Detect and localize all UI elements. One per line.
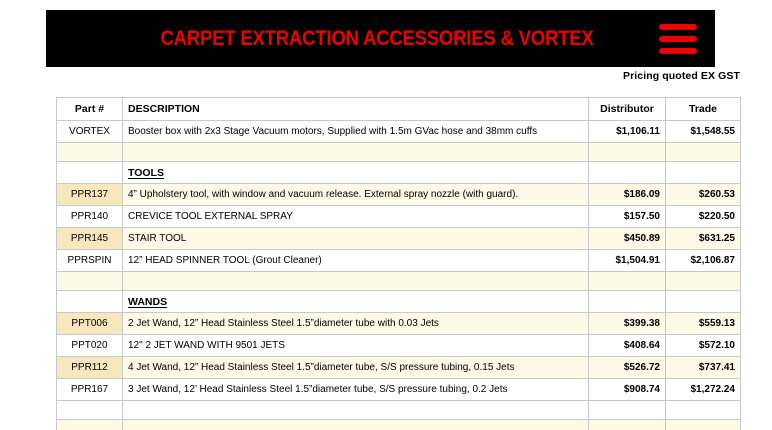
cell-description: Booster box with 2x3 Stage Vacuum motors… — [123, 121, 589, 143]
table-header-row: Part # DESCRIPTION Distributor Trade — [57, 98, 741, 121]
hamburger-bar-1 — [659, 24, 697, 30]
column-header-distributor: Distributor — [589, 98, 666, 121]
column-header-part: Part # — [57, 98, 123, 121]
table-row[interactable]: PPR1673 Jet Wand, 12’ Head Stainless Ste… — [57, 379, 741, 401]
section-title-label: WANDS — [128, 296, 167, 308]
cell-part-number: VORTEX — [57, 121, 123, 143]
section-title: WANDS — [123, 291, 589, 313]
cell-trade-price: $2,106.87 — [666, 250, 741, 272]
cell-description: CREVICE TOOL EXTERNAL SPRAY — [123, 206, 589, 228]
cell-distributor-price: $408.64 — [589, 335, 666, 357]
cell-part-number: PPT020 — [57, 335, 123, 357]
spacer-cell — [123, 143, 589, 162]
cell-part-number: PPRSPIN — [57, 250, 123, 272]
spacer-cell — [123, 272, 589, 291]
table-spacer-row — [57, 272, 741, 291]
spacer-cell — [666, 272, 741, 291]
spacer-cell — [57, 401, 123, 420]
page-title: CARPET EXTRACTION ACCESSORIES & VORTEX — [83, 27, 621, 51]
hamburger-bar-2 — [659, 36, 697, 42]
table-row[interactable]: PPR140CREVICE TOOL EXTERNAL SPRAY$157.50… — [57, 206, 741, 228]
cell-trade-price: $260.53 — [666, 184, 741, 206]
section-price-cell — [666, 291, 741, 313]
cell-part-number: PPT006 — [57, 313, 123, 335]
spacer-cell — [57, 420, 123, 430]
cell-trade-price: $1,548.55 — [666, 121, 741, 143]
cell-description: 3 Jet Wand, 12’ Head Stainless Steel 1.5… — [123, 379, 589, 401]
table-row[interactable]: PPR145STAIR TOOL$450.89$631.25 — [57, 228, 741, 250]
cell-description: 2 Jet Wand, 12” Head Stainless Steel 1.5… — [123, 313, 589, 335]
section-title-label: TOOLS — [128, 167, 164, 179]
spacer-cell — [666, 420, 741, 430]
column-header-description: DESCRIPTION — [123, 98, 589, 121]
price-table-container: Part # DESCRIPTION Distributor Trade VOR… — [56, 97, 740, 430]
cell-distributor-price: $399.38 — [589, 313, 666, 335]
cell-distributor-price: $526.72 — [589, 357, 666, 379]
cell-distributor-price: $186.09 — [589, 184, 666, 206]
cell-trade-price: $559.13 — [666, 313, 741, 335]
section-part-cell — [57, 162, 123, 184]
price-table-body: Part # DESCRIPTION Distributor Trade VOR… — [57, 98, 741, 430]
spacer-cell — [123, 420, 589, 430]
table-row[interactable]: PPR1124 Jet Wand, 12” Head Stainless Ste… — [57, 357, 741, 379]
table-row[interactable]: PPRSPIN12” HEAD SPINNER TOOL (Grout Clea… — [57, 250, 741, 272]
page-banner: CARPET EXTRACTION ACCESSORIES & VORTEX — [46, 10, 715, 67]
spacer-cell — [589, 401, 666, 420]
table-section-row: TOOLS — [57, 162, 741, 184]
table-row[interactable]: VORTEXBooster box with 2x3 Stage Vacuum … — [57, 121, 741, 143]
table-row[interactable]: PPT0062 Jet Wand, 12” Head Stainless Ste… — [57, 313, 741, 335]
cell-description: 12” HEAD SPINNER TOOL (Grout Cleaner) — [123, 250, 589, 272]
column-header-trade: Trade — [666, 98, 741, 121]
table-spacer-row — [57, 401, 741, 420]
section-price-cell — [666, 162, 741, 184]
section-title: TOOLS — [123, 162, 589, 184]
cell-distributor-price: $908.74 — [589, 379, 666, 401]
cell-description: STAIR TOOL — [123, 228, 589, 250]
hamburger-menu-icon[interactable] — [657, 24, 697, 54]
table-section-row: WANDS — [57, 291, 741, 313]
cell-description: 12" 2 JET WAND WITH 9501 JETS — [123, 335, 589, 357]
spacer-cell — [123, 401, 589, 420]
spacer-cell — [57, 143, 123, 162]
table-spacer-row — [57, 420, 741, 430]
cell-trade-price: $631.25 — [666, 228, 741, 250]
cell-trade-price: $572.10 — [666, 335, 741, 357]
spacer-cell — [589, 143, 666, 162]
cell-description: 4 Jet Wand, 12” Head Stainless Steel 1.5… — [123, 357, 589, 379]
cell-description: 4” Upholstery tool, with window and vacu… — [123, 184, 589, 206]
cell-part-number: PPR167 — [57, 379, 123, 401]
cell-distributor-price: $1,504.91 — [589, 250, 666, 272]
spacer-cell — [666, 143, 741, 162]
spacer-cell — [589, 272, 666, 291]
spacer-cell — [57, 272, 123, 291]
price-table: Part # DESCRIPTION Distributor Trade VOR… — [56, 97, 741, 430]
cell-distributor-price: $1,106.11 — [589, 121, 666, 143]
price-list-page: CARPET EXTRACTION ACCESSORIES & VORTEX P… — [0, 0, 772, 430]
spacer-cell — [589, 420, 666, 430]
cell-trade-price: $737.41 — [666, 357, 741, 379]
cell-part-number: PPR112 — [57, 357, 123, 379]
cell-distributor-price: $157.50 — [589, 206, 666, 228]
cell-part-number: PPR145 — [57, 228, 123, 250]
table-row[interactable]: PPT02012" 2 JET WAND WITH 9501 JETS$408.… — [57, 335, 741, 357]
pricing-note: Pricing quoted EX GST — [0, 70, 740, 82]
section-price-cell — [589, 162, 666, 184]
table-spacer-row — [57, 143, 741, 162]
section-price-cell — [589, 291, 666, 313]
hamburger-bar-3 — [659, 48, 697, 54]
cell-part-number: PPR137 — [57, 184, 123, 206]
table-row[interactable]: PPR1374” Upholstery tool, with window an… — [57, 184, 741, 206]
cell-trade-price: $220.50 — [666, 206, 741, 228]
spacer-cell — [666, 401, 741, 420]
section-part-cell — [57, 291, 123, 313]
cell-part-number: PPR140 — [57, 206, 123, 228]
cell-trade-price: $1,272.24 — [666, 379, 741, 401]
cell-distributor-price: $450.89 — [589, 228, 666, 250]
